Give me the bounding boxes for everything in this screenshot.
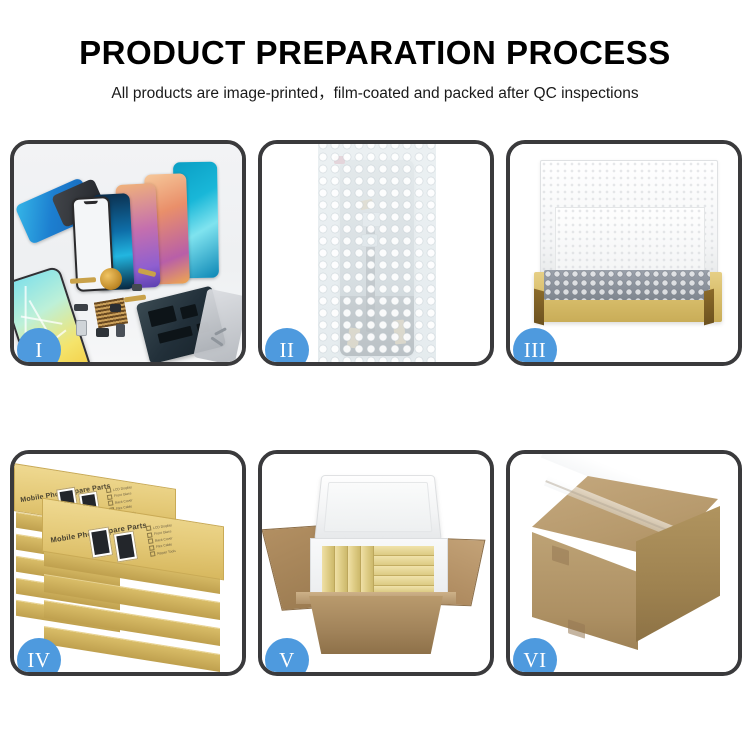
checkbox-icon bbox=[147, 532, 153, 538]
box-corner-right-icon bbox=[704, 289, 714, 326]
phone-screen-icon bbox=[116, 534, 134, 559]
packed-box-icon bbox=[374, 556, 434, 566]
box-corner-left-icon bbox=[534, 289, 544, 326]
carton-front-icon bbox=[300, 596, 452, 654]
small-part-icon bbox=[96, 328, 109, 337]
small-part-icon bbox=[116, 324, 125, 337]
step-badge-3: III bbox=[513, 328, 557, 366]
process-step-grid: I II bbox=[10, 140, 742, 678]
gray-bubble-wrap-fill-icon bbox=[544, 270, 710, 300]
header: PRODUCT PREPARATION PROCESS All products… bbox=[0, 0, 750, 103]
small-part-icon bbox=[76, 320, 87, 336]
speaker-module-icon bbox=[100, 268, 122, 290]
process-step-panel-6: VI bbox=[506, 450, 742, 676]
checkbox-icon bbox=[150, 551, 156, 557]
step-badge-5: V bbox=[265, 638, 309, 676]
box-phone-image-icon bbox=[113, 531, 138, 563]
process-step-panel-3: III bbox=[506, 140, 742, 366]
packed-box-icon bbox=[335, 546, 348, 592]
box-checklist-front: LCD Display Front Glass Back Cover Flex … bbox=[146, 522, 176, 557]
product-preparation-infographic: PRODUCT PREPARATION PROCESS All products… bbox=[0, 0, 750, 750]
checkbox-icon bbox=[148, 538, 154, 544]
small-part-icon bbox=[110, 304, 121, 312]
checkbox-icon bbox=[106, 487, 112, 493]
foam-lid-inner-icon bbox=[324, 482, 433, 532]
packed-boxes-group-icon bbox=[322, 546, 434, 592]
bubble-wrap-bag-icon bbox=[318, 144, 436, 362]
process-step-panel-5: V bbox=[258, 450, 494, 676]
checkbox-icon bbox=[149, 545, 155, 551]
step-badge-4: IV bbox=[17, 638, 61, 676]
box-phone-image-icon bbox=[88, 527, 113, 559]
bubble-texture-icon bbox=[318, 144, 436, 362]
packed-box-icon bbox=[322, 546, 335, 592]
chip-icon bbox=[148, 305, 177, 327]
checkbox-icon bbox=[108, 500, 114, 506]
process-step-panel-1: I bbox=[10, 140, 246, 366]
chip-icon bbox=[180, 304, 198, 320]
foam-cooler-lid-icon bbox=[314, 475, 441, 541]
checkbox-icon bbox=[107, 494, 113, 500]
phone-notch-icon bbox=[84, 201, 98, 205]
page-title: PRODUCT PREPARATION PROCESS bbox=[0, 0, 750, 72]
step-badge-6: VI bbox=[513, 638, 557, 676]
checkbox-icon bbox=[146, 525, 152, 531]
process-step-panel-4: Mobile Phone Spare Parts LCD Display Fro… bbox=[10, 450, 246, 676]
white-box-lid-icon bbox=[540, 160, 718, 280]
packed-box-icon bbox=[374, 546, 434, 556]
step-badge-1: I bbox=[17, 328, 61, 366]
phone-screen-icon bbox=[91, 530, 109, 555]
packed-box-icon bbox=[374, 576, 434, 586]
step-badge-2: II bbox=[265, 328, 309, 366]
packed-box-icon bbox=[374, 566, 434, 576]
small-part-icon bbox=[74, 304, 88, 311]
process-step-panel-2: II bbox=[258, 140, 494, 366]
packed-box-icon bbox=[361, 546, 374, 592]
chip-icon bbox=[157, 326, 192, 344]
page-subtitle: All products are image-printed，film-coat… bbox=[0, 72, 750, 103]
small-part-icon bbox=[132, 284, 142, 291]
packed-box-icon bbox=[348, 546, 361, 592]
